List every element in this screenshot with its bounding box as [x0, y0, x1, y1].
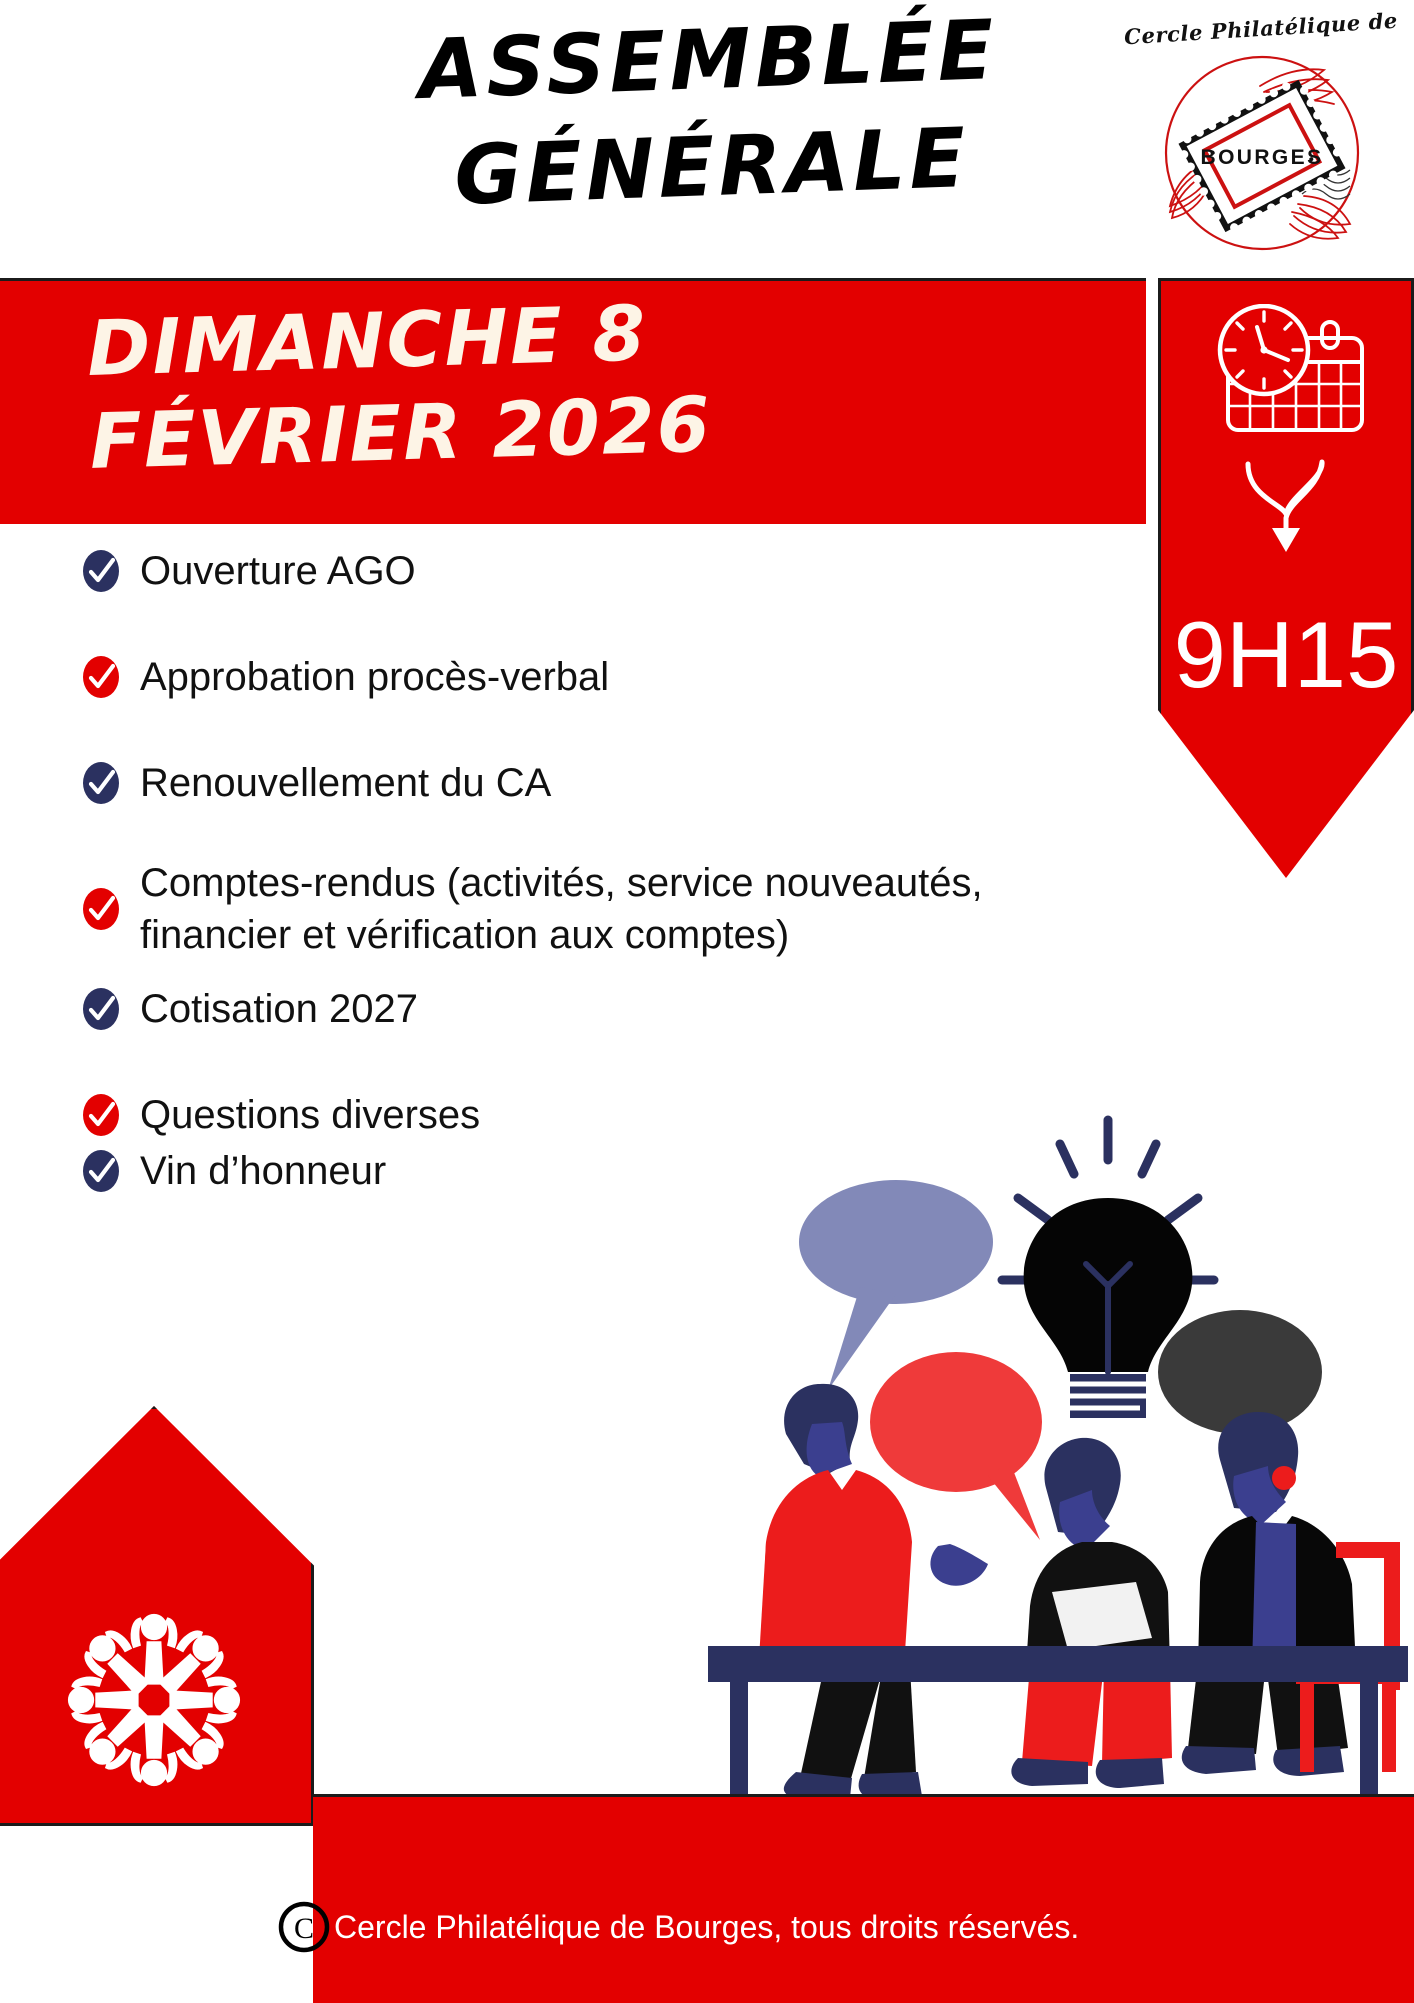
agenda-item-label: Ouverture AGO	[140, 545, 416, 597]
date-text: DIMANCHE 8 FÉVRIER 2026	[86, 275, 1111, 489]
check-circle-icon	[78, 548, 124, 594]
agenda-item-label: Questions diverses	[140, 1089, 480, 1141]
svg-text:BOURGES: BOURGES	[1201, 146, 1324, 169]
check-circle-icon	[78, 986, 124, 1032]
footer-text: Cercle Philatélique de Bourges, tous dro…	[334, 1909, 1079, 1946]
footer-bar: C Cercle Philatélique de Bourges, tous d…	[313, 1794, 1414, 2003]
date-banner: DIMANCHE 8 FÉVRIER 2026	[0, 278, 1146, 524]
club-logo: Cercle Philatélique de	[1128, 14, 1394, 264]
logo-script-text: Cercle Philatélique de	[1121, 8, 1400, 50]
copyright-icon: C	[276, 1899, 332, 1955]
time-ribbon: 9H15	[1158, 278, 1414, 878]
footer-credit: C Cercle Philatélique de Bourges, tous d…	[314, 1899, 1414, 1955]
agenda-item: Renouvellement du CA	[78, 757, 1168, 809]
agenda-item-label: Approbation procès-verbal	[140, 651, 609, 703]
philatelic-stamp-emblem-icon: BOURGES	[1152, 48, 1372, 258]
clock-calendar-icon	[1202, 304, 1374, 436]
check-circle-icon	[78, 1092, 124, 1138]
community-badge	[0, 1406, 314, 1826]
agenda-item-label: Renouvellement du CA	[140, 757, 551, 809]
agenda-item-label: Vin d’honneur	[140, 1145, 386, 1197]
meeting-scene-graphic	[700, 1072, 1414, 1794]
agenda-item: Comptes-rendus (activités, service nouve…	[78, 857, 1168, 961]
agenda-item: Ouverture AGO	[78, 545, 1168, 597]
curly-down-arrow-icon	[1244, 456, 1328, 556]
check-circle-icon	[78, 886, 124, 932]
svg-text:C: C	[294, 1912, 314, 1945]
agenda-item-label: Comptes-rendus (activités, service nouve…	[140, 857, 1020, 961]
agenda-item: Approbation procès-verbal	[78, 651, 1168, 703]
time-text: 9H15	[1158, 608, 1414, 702]
people-circle-teamwork-icon	[30, 1586, 278, 1814]
meeting-illustration	[700, 1072, 1414, 1794]
check-circle-icon	[78, 654, 124, 700]
agenda-item: Cotisation 2027	[78, 983, 1168, 1035]
check-circle-icon	[78, 1148, 124, 1194]
agenda-item-label: Cotisation 2027	[140, 983, 418, 1035]
page-title: ASSEMBLÉE GÉNÉRALE	[327, 0, 1094, 234]
check-circle-icon	[78, 760, 124, 806]
